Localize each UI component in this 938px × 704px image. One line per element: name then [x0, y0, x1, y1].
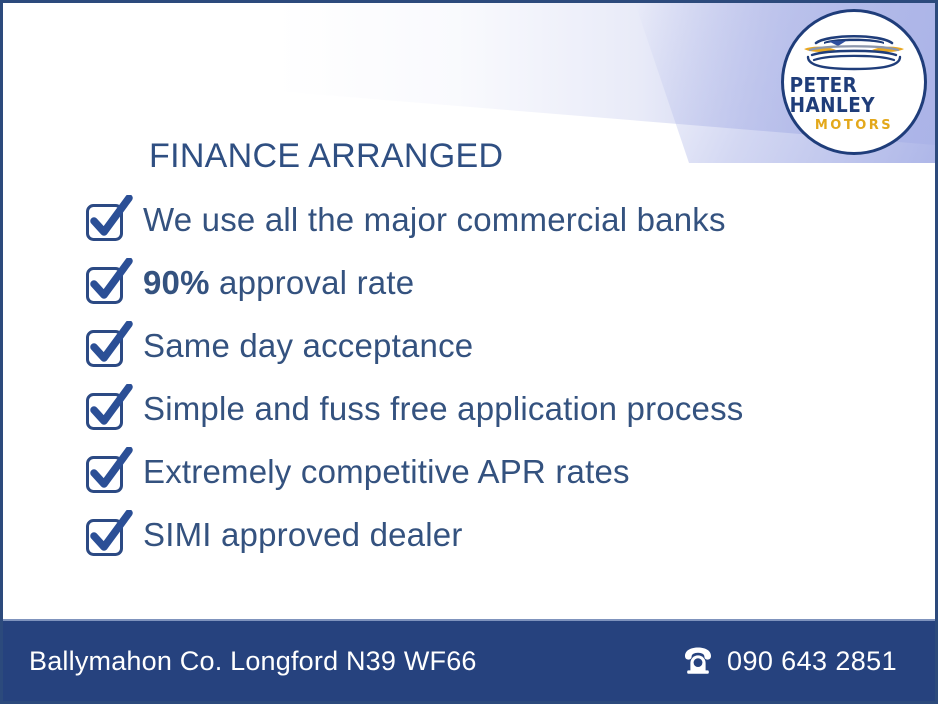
list-item-label: 90% approval rate — [143, 266, 414, 299]
list-item-label: We use all the major commercial banks — [143, 203, 726, 236]
logo-subtitle-text: MOTORS — [815, 119, 893, 132]
page-title: FINANCE ARRANGED — [149, 137, 503, 176]
dealer-logo-badge: PETER HANLEY MOTORS — [781, 9, 927, 155]
list-item-rest: Extremely competitive APR rates — [143, 453, 630, 490]
list-item: Extremely competitive APR rates — [83, 440, 915, 503]
checkbox-checked-icon — [83, 321, 133, 371]
footer-bar: Ballymahon Co. Longford N39 WF66 090 643… — [3, 619, 935, 701]
list-item-rest: Same day acceptance — [143, 327, 473, 364]
list-item: 90% approval rate — [83, 251, 915, 314]
list-item: Simple and fuss free application process — [83, 377, 915, 440]
car-front-icon — [798, 29, 910, 73]
checkbox-checked-icon — [83, 447, 133, 497]
list-item-label: Simple and fuss free application process — [143, 392, 744, 425]
feature-list: We use all the major commercial banks 90… — [83, 188, 915, 566]
list-item-rest: approval rate — [210, 264, 415, 301]
list-item: Same day acceptance — [83, 314, 915, 377]
list-item: We use all the major commercial banks — [83, 188, 915, 251]
checkbox-checked-icon — [83, 258, 133, 308]
list-item-label: SIMI approved dealer — [143, 518, 463, 551]
footer-phone-group[interactable]: 090 643 2851 — [681, 646, 897, 677]
list-item-label: Same day acceptance — [143, 329, 473, 362]
list-item: SIMI approved dealer — [83, 503, 915, 566]
logo-name-text: PETER HANLEY — [790, 75, 919, 115]
list-item-rest: We use all the major commercial banks — [143, 201, 726, 238]
footer-address-text: Ballymahon Co. Longford N39 WF66 — [29, 646, 477, 677]
list-item-rest: Simple and fuss free application process — [143, 390, 744, 427]
list-item-rest: SIMI approved dealer — [143, 516, 463, 553]
checkbox-checked-icon — [83, 195, 133, 245]
telephone-icon — [681, 646, 715, 676]
finance-arranged-poster: PETER HANLEY MOTORS FINANCE ARRANGED We … — [0, 0, 938, 704]
list-item-label: Extremely competitive APR rates — [143, 455, 630, 488]
checkbox-checked-icon — [83, 510, 133, 560]
list-item-lead: 90% — [143, 264, 210, 301]
checkbox-checked-icon — [83, 384, 133, 434]
footer-phone-text: 090 643 2851 — [727, 646, 897, 677]
